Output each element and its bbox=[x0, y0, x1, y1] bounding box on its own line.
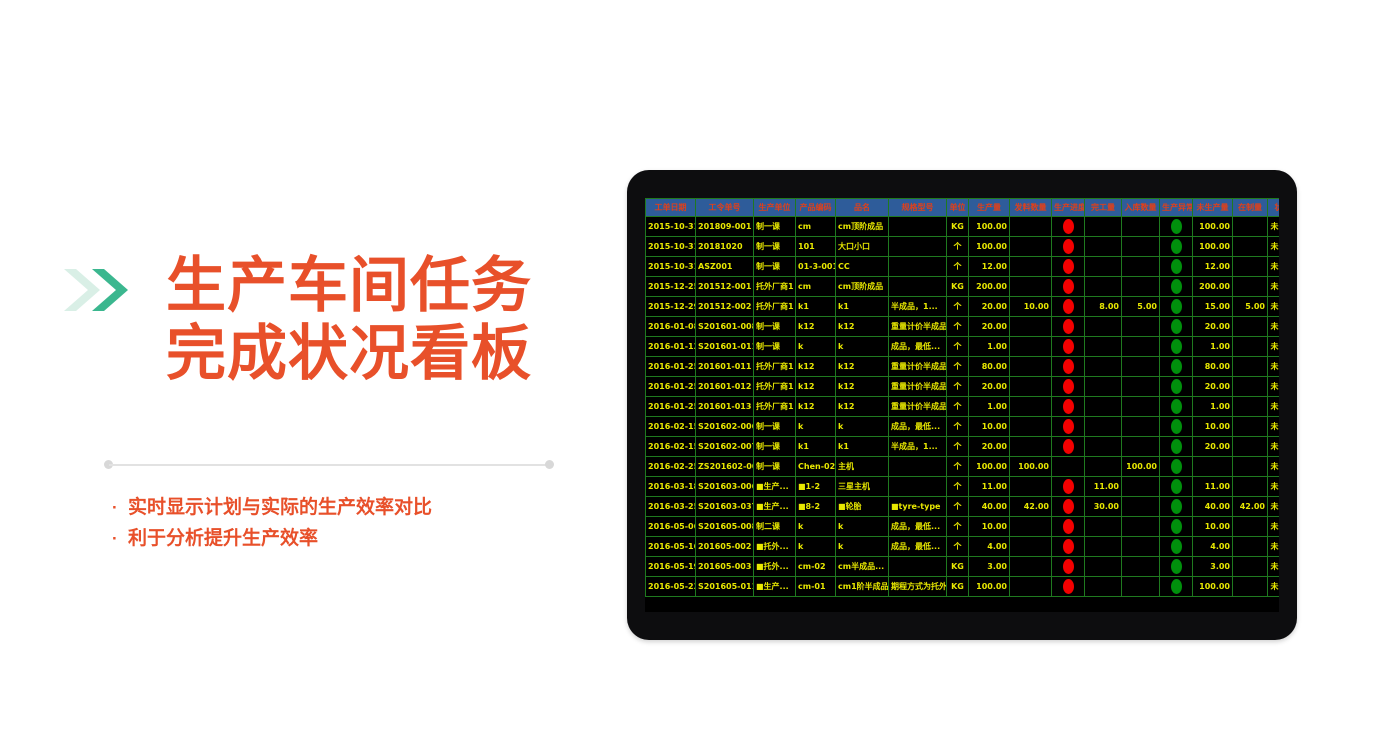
cell-production-unit: 制一课 bbox=[754, 257, 796, 277]
abnormal-status-dot-icon bbox=[1171, 459, 1182, 474]
cell-production-qty: 12.00 bbox=[969, 257, 1010, 277]
cell-status: 未审核 bbox=[1268, 457, 1280, 477]
cell-production-qty: 1.00 bbox=[969, 337, 1010, 357]
cell-product-code: k12 bbox=[796, 317, 836, 337]
cell-work-order-no: 20181020 bbox=[696, 237, 754, 257]
cell-stocked-qty bbox=[1122, 277, 1160, 297]
cell-production-qty: 20.00 bbox=[969, 297, 1010, 317]
cell-product-name: k bbox=[836, 537, 889, 557]
double-chevron-icon bbox=[62, 266, 132, 314]
cell-production-unit: 制一课 bbox=[754, 217, 796, 237]
cell-not-produced-qty: 40.00 bbox=[1193, 497, 1233, 517]
cell-spec-model: 成品，最低... bbox=[889, 417, 947, 437]
table-row[interactable]: 2016-01-25201601-013托外厂商1k12k12重量计价半成品个1… bbox=[646, 397, 1280, 417]
cell-not-produced-qty bbox=[1193, 457, 1233, 477]
table-row[interactable]: 2016-01-13S201601-011制一课kk成品，最低...个1.001… bbox=[646, 337, 1280, 357]
table-body: 2015-10-31201809-001制一课cmcm顶阶成品KG100.001… bbox=[646, 217, 1280, 597]
cell-uom: 个 bbox=[947, 497, 969, 517]
cell-issued-qty bbox=[1010, 237, 1052, 257]
cell-not-produced-qty: 20.00 bbox=[1193, 437, 1233, 457]
cell-production-unit: ■生产... bbox=[754, 477, 796, 497]
table-row[interactable]: 2015-10-31ASZ001制一课01-3-001CC个12.0012.00… bbox=[646, 257, 1280, 277]
table-row[interactable]: 2016-01-25201601-011托外厂商1k12k12重量计价半成品个8… bbox=[646, 357, 1280, 377]
cell-wip-qty bbox=[1233, 397, 1268, 417]
cell-work-order-date: 2016-01-25 bbox=[646, 377, 696, 397]
cell-uom: 个 bbox=[947, 337, 969, 357]
cell-abnormal bbox=[1160, 317, 1193, 337]
cell-product-code: ■8-2 bbox=[796, 497, 836, 517]
cell-status: 未审核 bbox=[1268, 297, 1280, 317]
cell-stocked-qty bbox=[1122, 557, 1160, 577]
cell-completed-qty bbox=[1085, 517, 1122, 537]
cell-work-order-no: 201605-002 bbox=[696, 537, 754, 557]
cell-wip-qty bbox=[1233, 337, 1268, 357]
column-header-product-code[interactable]: 产品编码 bbox=[796, 199, 836, 217]
cell-uom: 个 bbox=[947, 457, 969, 477]
cell-stocked-qty bbox=[1122, 497, 1160, 517]
abnormal-status-dot-icon bbox=[1171, 319, 1182, 334]
list-item: · 利于分析提升生产效率 bbox=[112, 523, 582, 554]
abnormal-status-dot-icon bbox=[1171, 259, 1182, 274]
cell-production-qty: 4.00 bbox=[969, 537, 1010, 557]
cell-not-produced-qty: 15.00 bbox=[1193, 297, 1233, 317]
cell-product-name: k bbox=[836, 417, 889, 437]
cell-uom: 个 bbox=[947, 417, 969, 437]
abnormal-status-dot-icon bbox=[1171, 519, 1182, 534]
cell-production-unit: ■生产... bbox=[754, 497, 796, 517]
cell-not-produced-qty: 100.00 bbox=[1193, 577, 1233, 597]
cell-work-order-no: S201602-006 bbox=[696, 417, 754, 437]
abnormal-status-dot-icon bbox=[1171, 399, 1182, 414]
table-row[interactable]: 2016-05-19201605-003■托外...cm-02cm半成品...K… bbox=[646, 557, 1280, 577]
cell-spec-model: 重量计价半成品 bbox=[889, 357, 947, 377]
table-row[interactable]: 2015-12-25201512-001托外厂商1cmcm顶阶成品KG200.0… bbox=[646, 277, 1280, 297]
cell-not-produced-qty: 80.00 bbox=[1193, 357, 1233, 377]
cell-issued-qty bbox=[1010, 557, 1052, 577]
cell-spec-model: 半成品，1... bbox=[889, 297, 947, 317]
cell-issued-qty bbox=[1010, 277, 1052, 297]
cell-uom: KG bbox=[947, 577, 969, 597]
divider-line bbox=[109, 464, 549, 466]
cell-stocked-qty bbox=[1122, 517, 1160, 537]
cell-work-order-date: 2016-03-25 bbox=[646, 497, 696, 517]
cell-not-produced-qty: 4.00 bbox=[1193, 537, 1233, 557]
cell-work-order-date: 2016-05-06 bbox=[646, 517, 696, 537]
cell-uom: 个 bbox=[947, 477, 969, 497]
cell-abnormal bbox=[1160, 477, 1193, 497]
cell-spec-model: 半成品，1... bbox=[889, 437, 947, 457]
column-header-production-unit[interactable]: 生产单位 bbox=[754, 199, 796, 217]
cell-abnormal bbox=[1160, 357, 1193, 377]
cell-wip-qty bbox=[1233, 217, 1268, 237]
cell-product-name: cm半成品... bbox=[836, 557, 889, 577]
cell-progress bbox=[1052, 477, 1085, 497]
divider bbox=[104, 460, 554, 470]
cell-work-order-no: S201605-008 bbox=[696, 517, 754, 537]
progress-status-dot-icon bbox=[1063, 519, 1074, 534]
cell-stocked-qty bbox=[1122, 377, 1160, 397]
cell-status: 未审核 bbox=[1268, 397, 1280, 417]
cell-production-qty: 40.00 bbox=[969, 497, 1010, 517]
cell-product-name: k12 bbox=[836, 397, 889, 417]
cell-stocked-qty: 5.00 bbox=[1122, 297, 1160, 317]
cell-product-code: k12 bbox=[796, 377, 836, 397]
progress-status-dot-icon bbox=[1063, 419, 1074, 434]
cell-issued-qty bbox=[1010, 437, 1052, 457]
cell-production-unit: 托外厂商1 bbox=[754, 297, 796, 317]
cell-not-produced-qty: 1.00 bbox=[1193, 337, 1233, 357]
cell-production-unit: 托外厂商1 bbox=[754, 357, 796, 377]
column-header-stocked-qty[interactable]: 入库数量 bbox=[1122, 199, 1160, 217]
cell-production-qty: 200.00 bbox=[969, 277, 1010, 297]
cell-progress bbox=[1052, 457, 1085, 477]
cell-production-qty: 20.00 bbox=[969, 377, 1010, 397]
cell-status: 未审核 bbox=[1268, 277, 1280, 297]
table-row[interactable]: 2016-01-08S201601-008制一课k12k12重量计价半成品个20… bbox=[646, 317, 1280, 337]
table-row[interactable]: 2016-03-18S201603-006■生产...■1-2三星主机个11.0… bbox=[646, 477, 1280, 497]
cell-work-order-date: 2015-10-31 bbox=[646, 237, 696, 257]
cell-uom: 个 bbox=[947, 537, 969, 557]
progress-status-dot-icon bbox=[1063, 379, 1074, 394]
cell-completed-qty bbox=[1085, 317, 1122, 337]
column-header-issued-qty[interactable]: 发料数量 bbox=[1010, 199, 1052, 217]
list-item: · 实时显示计划与实际的生产效率对比 bbox=[112, 492, 582, 523]
cell-not-produced-qty: 11.00 bbox=[1193, 477, 1233, 497]
cell-abnormal bbox=[1160, 497, 1193, 517]
abnormal-status-dot-icon bbox=[1171, 359, 1182, 374]
cell-progress bbox=[1052, 217, 1085, 237]
progress-status-dot-icon bbox=[1063, 359, 1074, 374]
cell-progress bbox=[1052, 557, 1085, 577]
cell-product-code: 01-3-001 bbox=[796, 257, 836, 277]
cell-stocked-qty bbox=[1122, 537, 1160, 557]
table-row[interactable]: 2016-02-15S201602-006制一课kk成品，最低...个10.00… bbox=[646, 417, 1280, 437]
cell-progress bbox=[1052, 297, 1085, 317]
cell-issued-qty: 10.00 bbox=[1010, 297, 1052, 317]
cell-production-qty: 100.00 bbox=[969, 577, 1010, 597]
cell-work-order-date: 2016-02-15 bbox=[646, 417, 696, 437]
cell-product-name: cm1阶半成品 bbox=[836, 577, 889, 597]
cell-work-order-no: ASZ001 bbox=[696, 257, 754, 277]
cell-wip-qty bbox=[1233, 277, 1268, 297]
cell-completed-qty bbox=[1085, 417, 1122, 437]
cell-production-unit: 制一课 bbox=[754, 417, 796, 437]
cell-product-code: ■1-2 bbox=[796, 477, 836, 497]
cell-production-qty: 20.00 bbox=[969, 317, 1010, 337]
column-header-uom[interactable]: 单位 bbox=[947, 199, 969, 217]
cell-abnormal bbox=[1160, 437, 1193, 457]
column-header-not-produced-qty[interactable]: 未生产量 bbox=[1193, 199, 1233, 217]
cell-work-order-date: 2016-01-13 bbox=[646, 337, 696, 357]
progress-status-dot-icon bbox=[1063, 559, 1074, 574]
cell-completed-qty: 11.00 bbox=[1085, 477, 1122, 497]
cell-product-name: CC bbox=[836, 257, 889, 277]
cell-wip-qty: 5.00 bbox=[1233, 297, 1268, 317]
column-header-abnormal[interactable]: 生产异常 bbox=[1160, 199, 1193, 217]
cell-stocked-qty bbox=[1122, 337, 1160, 357]
cell-production-qty: 10.00 bbox=[969, 517, 1010, 537]
abnormal-status-dot-icon bbox=[1171, 379, 1182, 394]
cell-product-code: cm bbox=[796, 277, 836, 297]
left-content-panel: 生产车间任务 完成状况看板 · 实时显示计划与实际的生产效率对比 · 利于分析提… bbox=[0, 0, 620, 753]
cell-progress bbox=[1052, 317, 1085, 337]
cell-production-qty: 1.00 bbox=[969, 397, 1010, 417]
cell-progress bbox=[1052, 277, 1085, 297]
cell-status: 未审核 bbox=[1268, 577, 1280, 597]
cell-product-code: k bbox=[796, 537, 836, 557]
cell-spec-model bbox=[889, 237, 947, 257]
progress-status-dot-icon bbox=[1063, 539, 1074, 554]
column-header-product-name[interactable]: 品名 bbox=[836, 199, 889, 217]
cell-product-name: k bbox=[836, 337, 889, 357]
column-header-wip-qty[interactable]: 在制量 bbox=[1233, 199, 1268, 217]
table-row[interactable]: 2015-12-29201512-002托外厂商1k1k1半成品，1...个20… bbox=[646, 297, 1280, 317]
cell-issued-qty bbox=[1010, 377, 1052, 397]
cell-issued-qty bbox=[1010, 217, 1052, 237]
cell-product-name: 主机 bbox=[836, 457, 889, 477]
progress-status-dot-icon bbox=[1063, 299, 1074, 314]
cell-status: 未审核 bbox=[1268, 357, 1280, 377]
cell-product-code: k bbox=[796, 417, 836, 437]
cell-wip-qty bbox=[1233, 357, 1268, 377]
production-task-table: 工单日期 工令单号 生产单位 产品编码 品名 规格型号 单位 生产量 发料数量 … bbox=[645, 198, 1279, 597]
cell-production-unit: ■生产... bbox=[754, 577, 796, 597]
cell-wip-qty bbox=[1233, 517, 1268, 537]
cell-work-order-no: 201601-011 bbox=[696, 357, 754, 377]
table-row[interactable]: 2015-10-3120181020制一课101大口小口个100.00100.0… bbox=[646, 237, 1280, 257]
cell-wip-qty: 42.00 bbox=[1233, 497, 1268, 517]
table-row[interactable]: 2016-03-25S201603-037■生产...■8-2■轮胎■tyre-… bbox=[646, 497, 1280, 517]
cell-spec-model: 成品，最低... bbox=[889, 537, 947, 557]
cell-product-code: k12 bbox=[796, 397, 836, 417]
cell-status: 未审核 bbox=[1268, 477, 1280, 497]
cell-issued-qty bbox=[1010, 537, 1052, 557]
cell-progress bbox=[1052, 257, 1085, 277]
cell-abnormal bbox=[1160, 417, 1193, 437]
cell-stocked-qty bbox=[1122, 577, 1160, 597]
cell-not-produced-qty: 10.00 bbox=[1193, 517, 1233, 537]
abnormal-status-dot-icon bbox=[1171, 499, 1182, 514]
cell-work-order-no: S201601-008 bbox=[696, 317, 754, 337]
column-header-work-order-date[interactable]: 工单日期 bbox=[646, 199, 696, 217]
progress-status-dot-icon bbox=[1063, 479, 1074, 494]
tablet-screen: 工单日期 工令单号 生产单位 产品编码 品名 规格型号 单位 生产量 发料数量 … bbox=[645, 198, 1279, 612]
cell-issued-qty bbox=[1010, 417, 1052, 437]
cell-issued-qty bbox=[1010, 357, 1052, 377]
column-header-production-qty[interactable]: 生产量 bbox=[969, 199, 1010, 217]
cell-completed-qty bbox=[1085, 397, 1122, 417]
cell-wip-qty bbox=[1233, 317, 1268, 337]
cell-issued-qty bbox=[1010, 577, 1052, 597]
cell-work-order-no: S201605-011 bbox=[696, 577, 754, 597]
cell-completed-qty bbox=[1085, 577, 1122, 597]
progress-status-dot-icon bbox=[1063, 219, 1074, 234]
cell-status: 未审核 bbox=[1268, 337, 1280, 357]
cell-abnormal bbox=[1160, 257, 1193, 277]
table-row[interactable]: 2015-10-31201809-001制一课cmcm顶阶成品KG100.001… bbox=[646, 217, 1280, 237]
cell-production-qty: 100.00 bbox=[969, 237, 1010, 257]
cell-issued-qty bbox=[1010, 257, 1052, 277]
cell-stocked-qty bbox=[1122, 437, 1160, 457]
cell-wip-qty bbox=[1233, 557, 1268, 577]
cell-abnormal bbox=[1160, 557, 1193, 577]
cell-status: 未审核 bbox=[1268, 537, 1280, 557]
cell-work-order-no: ZS201602-004 bbox=[696, 457, 754, 477]
cell-completed-qty bbox=[1085, 377, 1122, 397]
abnormal-status-dot-icon bbox=[1171, 579, 1182, 594]
cell-progress bbox=[1052, 237, 1085, 257]
cell-abnormal bbox=[1160, 577, 1193, 597]
table-row[interactable]: 2016-01-25201601-012托外厂商1k12k12重量计价半成品个2… bbox=[646, 377, 1280, 397]
cell-product-name: ■轮胎 bbox=[836, 497, 889, 517]
cell-not-produced-qty: 12.00 bbox=[1193, 257, 1233, 277]
cell-product-code: k bbox=[796, 337, 836, 357]
cell-work-order-no: S201603-037 bbox=[696, 497, 754, 517]
table-row[interactable]: 2016-05-06S201605-008制二课kk成品，最低...个10.00… bbox=[646, 517, 1280, 537]
cell-status: 未审核 bbox=[1268, 257, 1280, 277]
cell-progress bbox=[1052, 377, 1085, 397]
cell-production-qty: 100.00 bbox=[969, 217, 1010, 237]
cell-stocked-qty bbox=[1122, 237, 1160, 257]
cell-spec-model: 重量计价半成品 bbox=[889, 397, 947, 417]
tablet-device-frame: 工单日期 工令单号 生产单位 产品编码 品名 规格型号 单位 生产量 发料数量 … bbox=[627, 170, 1297, 640]
cell-stocked-qty bbox=[1122, 477, 1160, 497]
cell-progress bbox=[1052, 337, 1085, 357]
cell-production-unit: 制一课 bbox=[754, 237, 796, 257]
cell-work-order-date: 2016-05-19 bbox=[646, 557, 696, 577]
cell-abnormal bbox=[1160, 277, 1193, 297]
cell-issued-qty bbox=[1010, 477, 1052, 497]
progress-status-dot-icon bbox=[1063, 319, 1074, 334]
column-header-work-order-no[interactable]: 工令单号 bbox=[696, 199, 754, 217]
cell-product-name: 三星主机 bbox=[836, 477, 889, 497]
cell-completed-qty bbox=[1085, 357, 1122, 377]
cell-completed-qty bbox=[1085, 277, 1122, 297]
cell-not-produced-qty: 20.00 bbox=[1193, 317, 1233, 337]
cell-not-produced-qty: 100.00 bbox=[1193, 237, 1233, 257]
cell-spec-model bbox=[889, 477, 947, 497]
cell-uom: 个 bbox=[947, 257, 969, 277]
cell-status: 未审核 bbox=[1268, 237, 1280, 257]
table-row[interactable]: 2016-02-25ZS201602-004制一课Chen-02主机个100.0… bbox=[646, 457, 1280, 477]
column-header-status[interactable]: 状态 bbox=[1268, 199, 1280, 217]
cell-abnormal bbox=[1160, 337, 1193, 357]
table-row[interactable]: 2016-02-15S201602-007制一课k1k1半成品，1...个20.… bbox=[646, 437, 1280, 457]
cell-production-qty: 20.00 bbox=[969, 437, 1010, 457]
cell-work-order-date: 2016-01-08 bbox=[646, 317, 696, 337]
cell-status: 未审核 bbox=[1268, 557, 1280, 577]
cell-spec-model: 重量计价半成品 bbox=[889, 317, 947, 337]
cell-abnormal bbox=[1160, 517, 1193, 537]
cell-issued-qty bbox=[1010, 317, 1052, 337]
abnormal-status-dot-icon bbox=[1171, 299, 1182, 314]
cell-work-order-date: 2015-10-31 bbox=[646, 257, 696, 277]
cell-work-order-no: 201512-001 bbox=[696, 277, 754, 297]
cell-work-order-date: 2016-01-25 bbox=[646, 357, 696, 377]
cell-production-unit: 托外厂商1 bbox=[754, 397, 796, 417]
cell-uom: 个 bbox=[947, 317, 969, 337]
cell-abnormal bbox=[1160, 457, 1193, 477]
cell-status: 未审核 bbox=[1268, 437, 1280, 457]
cell-wip-qty bbox=[1233, 577, 1268, 597]
cell-uom: 个 bbox=[947, 297, 969, 317]
table-header-row: 工单日期 工令单号 生产单位 产品编码 品名 规格型号 单位 生产量 发料数量 … bbox=[646, 199, 1280, 217]
column-header-completed-qty[interactable]: 完工量 bbox=[1085, 199, 1122, 217]
cell-work-order-no: S201603-006 bbox=[696, 477, 754, 497]
cell-status: 未审核 bbox=[1268, 417, 1280, 437]
cell-work-order-date: 2016-05-16 bbox=[646, 537, 696, 557]
cell-progress bbox=[1052, 357, 1085, 377]
cell-completed-qty bbox=[1085, 457, 1122, 477]
progress-status-dot-icon bbox=[1063, 399, 1074, 414]
cell-work-order-date: 2015-12-25 bbox=[646, 277, 696, 297]
bullet-text-2: 利于分析提升生产效率 bbox=[128, 523, 318, 554]
cell-product-name: k12 bbox=[836, 377, 889, 397]
cell-work-order-no: 201605-003 bbox=[696, 557, 754, 577]
cell-not-produced-qty: 1.00 bbox=[1193, 397, 1233, 417]
cell-issued-qty: 42.00 bbox=[1010, 497, 1052, 517]
column-header-progress[interactable]: 生产进度 bbox=[1052, 199, 1085, 217]
cell-product-code: k1 bbox=[796, 297, 836, 317]
cell-issued-qty bbox=[1010, 337, 1052, 357]
cell-production-unit: ■托外... bbox=[754, 557, 796, 577]
cell-spec-model: 成品，最低... bbox=[889, 517, 947, 537]
abnormal-status-dot-icon bbox=[1171, 219, 1182, 234]
cell-work-order-date: 2015-12-29 bbox=[646, 297, 696, 317]
cell-wip-qty bbox=[1233, 237, 1268, 257]
cell-uom: 个 bbox=[947, 397, 969, 417]
cell-abnormal bbox=[1160, 537, 1193, 557]
cell-stocked-qty bbox=[1122, 357, 1160, 377]
table-row[interactable]: 2016-05-16201605-002■托外...kk成品，最低...个4.0… bbox=[646, 537, 1280, 557]
progress-status-dot-icon bbox=[1063, 279, 1074, 294]
abnormal-status-dot-icon bbox=[1171, 539, 1182, 554]
bullet-marker-icon: · bbox=[112, 523, 128, 554]
bullet-text-1: 实时显示计划与实际的生产效率对比 bbox=[128, 492, 432, 523]
cell-wip-qty bbox=[1233, 457, 1268, 477]
cell-production-unit: 制二课 bbox=[754, 517, 796, 537]
abnormal-status-dot-icon bbox=[1171, 339, 1182, 354]
cell-completed-qty bbox=[1085, 337, 1122, 357]
cell-progress bbox=[1052, 537, 1085, 557]
cell-progress bbox=[1052, 517, 1085, 537]
cell-completed-qty bbox=[1085, 217, 1122, 237]
cell-progress bbox=[1052, 437, 1085, 457]
cell-production-unit: 制一课 bbox=[754, 317, 796, 337]
cell-work-order-no: 201601-012 bbox=[696, 377, 754, 397]
tablet-bottom-bezel bbox=[645, 620, 1279, 632]
abnormal-status-dot-icon bbox=[1171, 439, 1182, 454]
cell-product-name: k12 bbox=[836, 357, 889, 377]
cell-not-produced-qty: 3.00 bbox=[1193, 557, 1233, 577]
cell-not-produced-qty: 10.00 bbox=[1193, 417, 1233, 437]
abnormal-status-dot-icon bbox=[1171, 239, 1182, 254]
table-row[interactable]: 2016-05-23S201605-011■生产...cm-01cm1阶半成品期… bbox=[646, 577, 1280, 597]
cell-product-code: 101 bbox=[796, 237, 836, 257]
column-header-spec-model[interactable]: 规格型号 bbox=[889, 199, 947, 217]
cell-stocked-qty bbox=[1122, 217, 1160, 237]
cell-spec-model: 成品，最低... bbox=[889, 337, 947, 357]
cell-not-produced-qty: 200.00 bbox=[1193, 277, 1233, 297]
title-line-1: 生产车间任务 bbox=[166, 252, 596, 320]
cell-production-unit: 制一课 bbox=[754, 337, 796, 357]
divider-dot-right bbox=[545, 460, 554, 469]
cell-product-code: Chen-02 bbox=[796, 457, 836, 477]
progress-status-dot-icon bbox=[1063, 439, 1074, 454]
cell-stocked-qty bbox=[1122, 317, 1160, 337]
cell-spec-model: 重量计价半成品 bbox=[889, 377, 947, 397]
abnormal-status-dot-icon bbox=[1171, 419, 1182, 434]
